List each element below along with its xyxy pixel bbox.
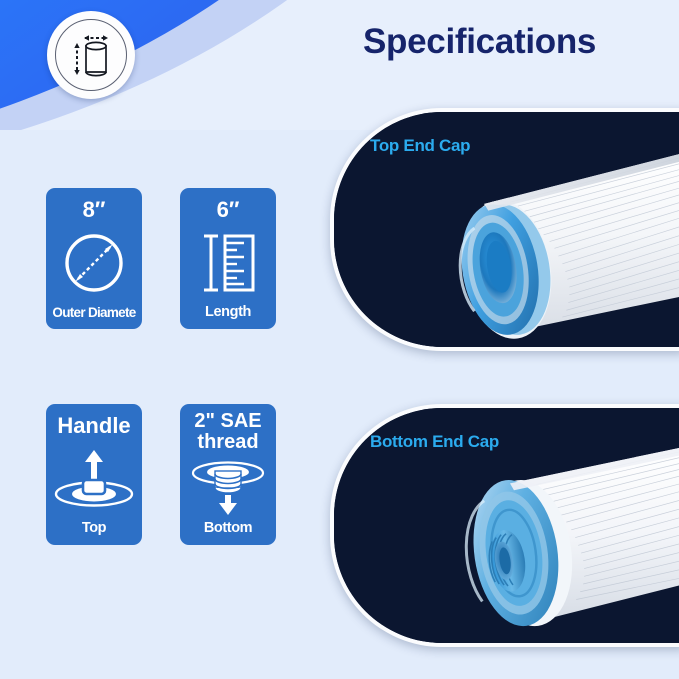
threaded-fitting-down-arrow-icon bbox=[186, 457, 270, 517]
spec-value-length: 6″ bbox=[217, 188, 240, 221]
spec-icon-wrap-outer-diameter bbox=[46, 221, 142, 305]
logo-badge bbox=[47, 11, 135, 99]
photo-panel-top-end-cap: Top End Cap bbox=[330, 108, 679, 351]
photo-label-bottom-end-cap: Bottom End Cap bbox=[370, 432, 499, 452]
handle-up-arrow-icon bbox=[52, 448, 136, 510]
ruler-icon bbox=[197, 230, 259, 296]
photo-label-top-end-cap: Top End Cap bbox=[370, 136, 470, 156]
spec-label-thread-position: Bottom bbox=[204, 520, 252, 545]
spec-icon-wrap-length bbox=[180, 221, 276, 304]
spec-label-length: Length bbox=[205, 304, 251, 329]
circle-diameter-arrow-icon bbox=[60, 229, 128, 297]
spec-value-outer-diameter: 8″ bbox=[83, 188, 106, 221]
spec-card-sae-thread[interactable]: 2" SAE thread Bottom bbox=[180, 404, 276, 545]
specifications-infographic: Specifications 8″ Outer Diamete 6″ bbox=[0, 0, 679, 679]
spec-value-handle: Handle bbox=[57, 404, 130, 437]
photo-panel-bottom-end-cap: Bottom End Cap bbox=[330, 404, 679, 647]
page-title: Specifications bbox=[363, 22, 596, 62]
spec-card-outer-diameter[interactable]: 8″ Outer Diamete bbox=[46, 188, 142, 329]
badge-inner-ring bbox=[55, 19, 127, 91]
spec-label-outer-diameter: Outer Diamete bbox=[52, 305, 135, 329]
spec-label-handle-position: Top bbox=[82, 520, 106, 545]
spec-value-sae-thread: 2" SAE thread bbox=[194, 404, 261, 453]
spec-icon-wrap-sae-thread bbox=[180, 453, 276, 520]
spec-card-handle[interactable]: Handle Top bbox=[46, 404, 142, 545]
spec-icon-wrap-handle bbox=[46, 437, 142, 520]
spec-card-length[interactable]: 6″ Length bbox=[180, 188, 276, 329]
